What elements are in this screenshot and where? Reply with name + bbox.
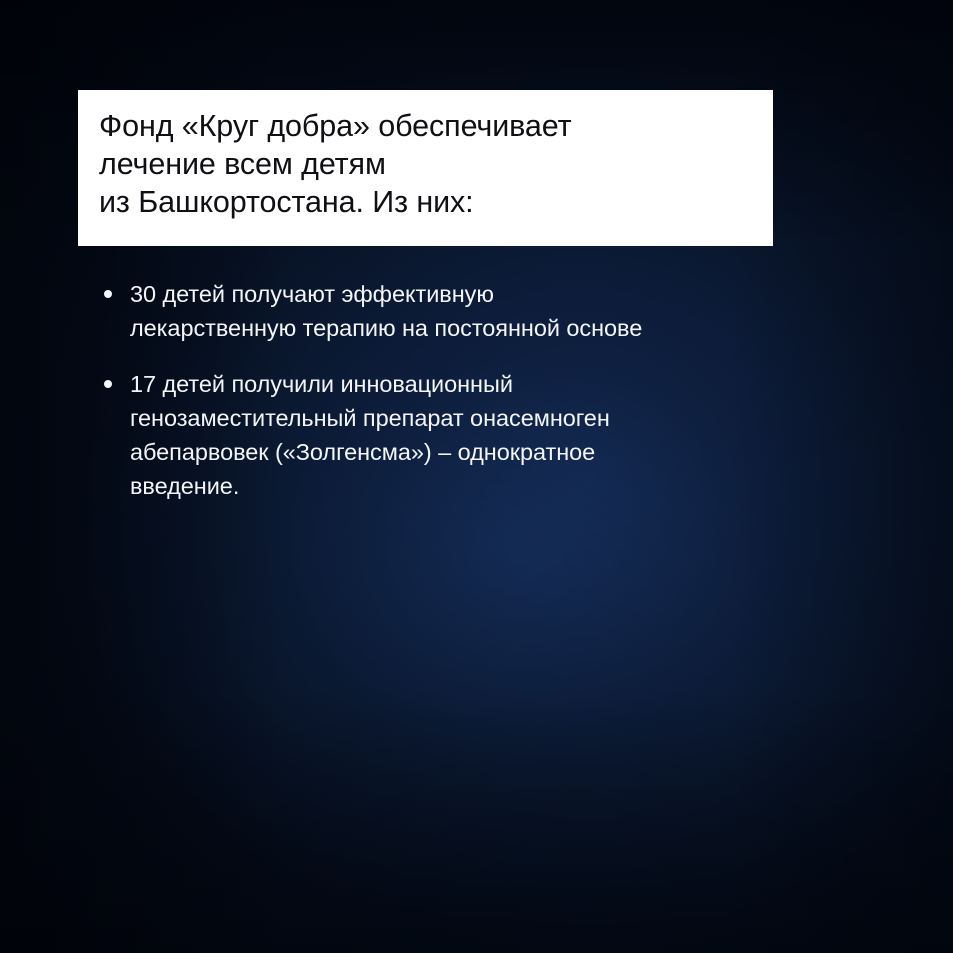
list-item: 17 детей получили инновационный генозаме… (98, 367, 858, 503)
bullet-2-line-3: абепарвовек («Золгенсма») – однократное (130, 435, 858, 469)
bullet-2-line-1: 17 детей получили инновационный (130, 367, 858, 401)
title-line-2: лечение всем детям (99, 145, 751, 183)
bullet-1-line-2: лекарственную терапию на постоянной осно… (130, 311, 858, 345)
title-card: Фонд «Круг добра» обеспечивает лечение в… (78, 90, 773, 246)
bullet-dot-icon (104, 290, 112, 298)
slide-canvas: Фонд «Круг добра» обеспечивает лечение в… (0, 0, 953, 953)
bullet-2-line-2: генозаместительный препарат онасемноген (130, 401, 858, 435)
title-line-1: Фонд «Круг добра» обеспечивает (99, 107, 751, 145)
bullet-1-line-1: 30 детей получают эффективную (130, 277, 858, 311)
bullet-dot-icon (104, 380, 112, 388)
bullet-list: 30 детей получают эффективную лекарствен… (98, 277, 858, 503)
bullet-2-line-4: введение. (130, 469, 858, 503)
list-item: 30 детей получают эффективную лекарствен… (98, 277, 858, 345)
title-line-3: из Башкортостана. Из них: (99, 183, 751, 221)
